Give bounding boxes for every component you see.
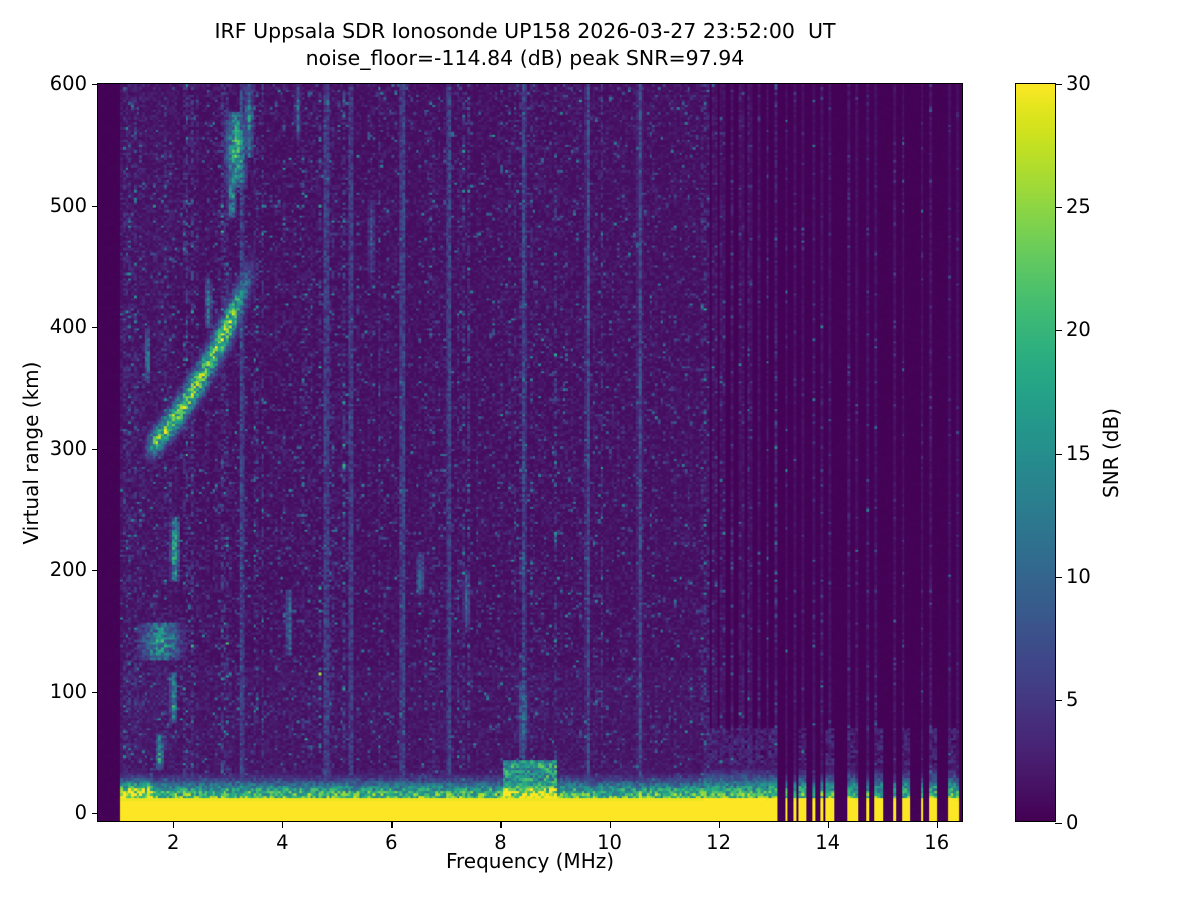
colorbar-tick-label: 20: [1066, 318, 1091, 341]
colorbar-tick-mark: [1055, 823, 1062, 824]
ionogram-plot-area: 0100200300400500600246810121416: [97, 83, 963, 822]
y-tick-label: 0: [75, 801, 87, 824]
colorbar-label-text: SNR (dB): [1099, 408, 1123, 498]
colorbar-tick-mark: [1055, 84, 1062, 85]
y-tick-mark: [92, 327, 99, 328]
colorbar-gradient: [1016, 84, 1055, 821]
y-tick-mark: [92, 813, 99, 814]
ionogram-heatmap: [98, 84, 962, 821]
y-tick-mark: [92, 692, 99, 693]
x-tick-mark: [173, 821, 174, 828]
y-tick-label: 200: [50, 558, 87, 581]
colorbar-tick-mark: [1055, 577, 1062, 578]
colorbar-tick-label: 10: [1066, 565, 1091, 588]
colorbar-tick-mark: [1055, 454, 1062, 455]
y-tick-mark: [92, 206, 99, 207]
colorbar-tick-label: 5: [1066, 688, 1078, 711]
y-tick-mark: [92, 449, 99, 450]
colorbar-tick-label: 30: [1066, 72, 1091, 95]
x-tick-mark: [282, 821, 283, 828]
x-tick-mark: [391, 821, 392, 828]
colorbar-label: SNR (dB): [1098, 83, 1124, 822]
x-tick-mark: [937, 821, 938, 828]
x-tick-mark: [719, 821, 720, 828]
ionogram-figure: IRF Uppsala SDR Ionosonde UP158 2026-03-…: [0, 0, 1200, 900]
y-axis-label: Virtual range (km): [18, 83, 44, 822]
y-tick-mark: [92, 570, 99, 571]
colorbar-tick-label: 15: [1066, 442, 1091, 465]
title-line-1: IRF Uppsala SDR Ionosonde UP158 2026-03-…: [0, 18, 1050, 45]
colorbar-tick-mark: [1055, 700, 1062, 701]
y-tick-mark: [92, 84, 99, 85]
x-tick-mark: [828, 821, 829, 828]
y-tick-label: 500: [50, 194, 87, 217]
x-axis-label: Frequency (MHz): [97, 849, 963, 873]
y-tick-label: 300: [50, 437, 87, 460]
colorbar-tick-mark: [1055, 207, 1062, 208]
colorbar: 051015202530: [1015, 83, 1056, 822]
y-tick-label: 600: [50, 72, 87, 95]
y-axis-label-text: Virtual range (km): [19, 361, 43, 544]
x-tick-mark: [500, 821, 501, 828]
figure-title: IRF Uppsala SDR Ionosonde UP158 2026-03-…: [0, 18, 1050, 72]
y-tick-label: 100: [50, 680, 87, 703]
x-tick-mark: [610, 821, 611, 828]
colorbar-tick-label: 25: [1066, 195, 1091, 218]
colorbar-tick-mark: [1055, 330, 1062, 331]
colorbar-tick-label: 0: [1066, 811, 1078, 834]
title-line-2: noise_floor=-114.84 (dB) peak SNR=97.94: [0, 45, 1050, 72]
y-tick-label: 400: [50, 315, 87, 338]
